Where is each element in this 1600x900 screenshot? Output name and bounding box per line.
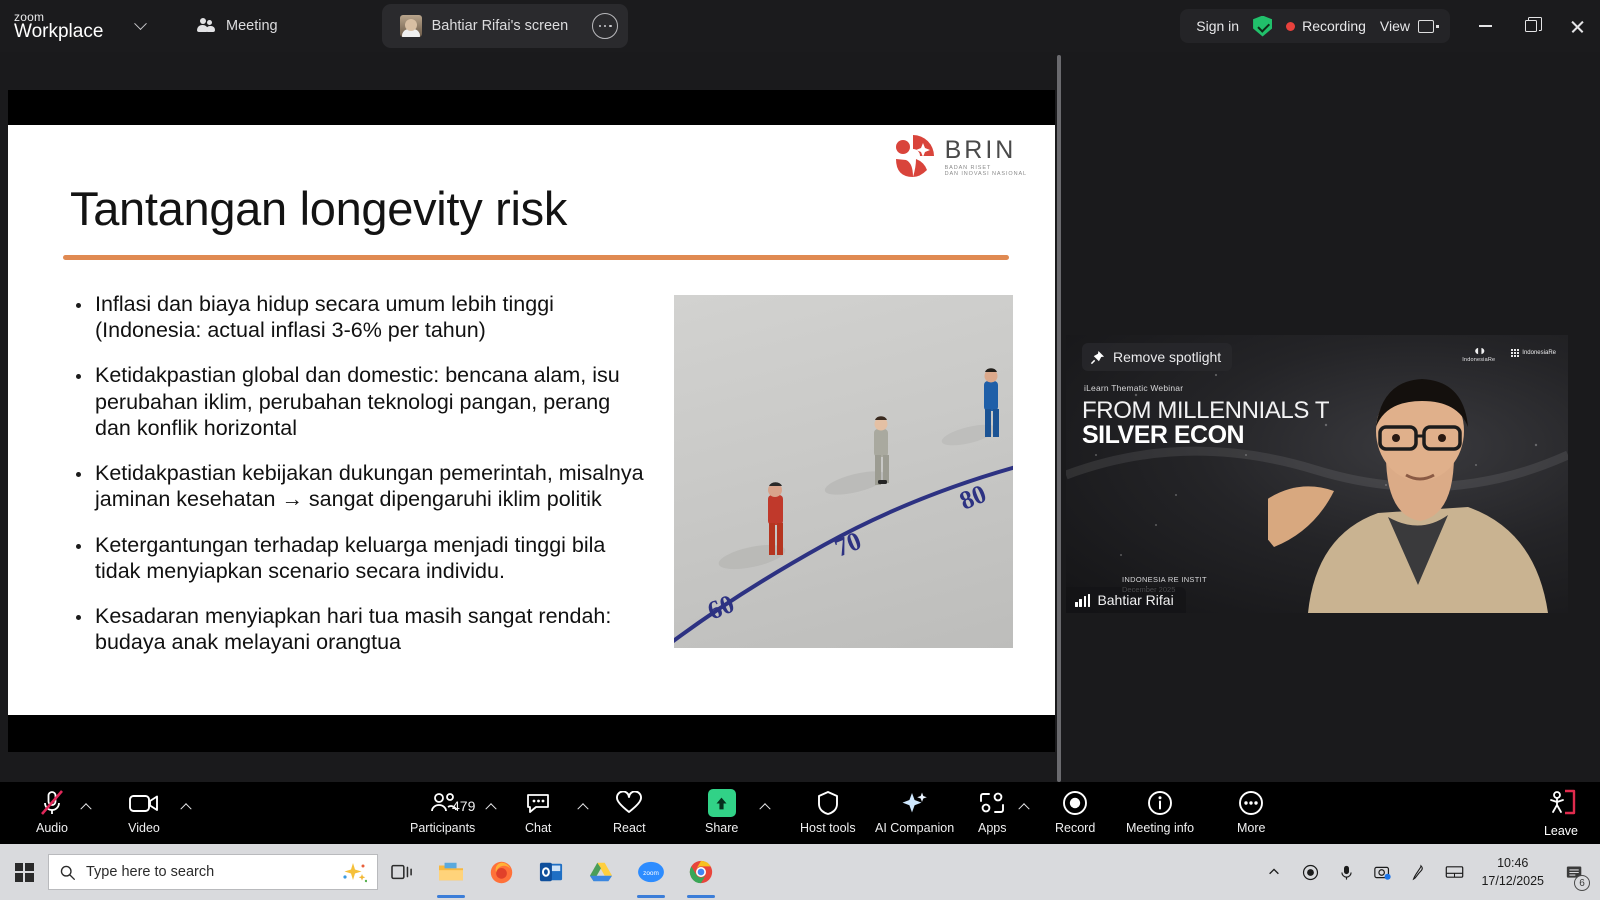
- control-apps-label: Apps: [978, 821, 1007, 835]
- clock-date: 17/12/2025: [1481, 872, 1544, 890]
- microphone-icon[interactable]: [1329, 844, 1363, 900]
- list-item: Inflasi dan biaya hidup secara umum lebi…: [76, 291, 651, 343]
- title-bar-right: Sign in Recording View: [1180, 0, 1600, 52]
- audio-options-caret[interactable]: [78, 798, 94, 814]
- control-audio[interactable]: Audio: [36, 788, 68, 835]
- more-dots-icon: [1238, 788, 1264, 818]
- chevron-down-icon[interactable]: [126, 12, 154, 40]
- control-more-label: More: [1237, 821, 1265, 835]
- control-record-label: Record: [1055, 821, 1095, 835]
- sign-in-button[interactable]: Sign in: [1196, 18, 1239, 34]
- participant-name: Bahtiar Rifai: [1097, 592, 1173, 608]
- zoom-icon[interactable]: zoom: [626, 844, 676, 900]
- heart-icon: [615, 788, 643, 818]
- control-react[interactable]: React: [613, 788, 646, 835]
- tab-meeting[interactable]: Meeting: [178, 4, 296, 48]
- control-audio-label: Audio: [36, 821, 68, 835]
- camera-status-icon[interactable]: [1365, 844, 1399, 900]
- slide-title: Tantangan longevity risk: [70, 181, 567, 236]
- leave-door-icon: [1546, 788, 1576, 821]
- view-label: View: [1380, 18, 1410, 34]
- presenter-webcam-image: [1268, 335, 1568, 613]
- audio-level-bars-icon: [1075, 594, 1090, 607]
- notification-count: 6: [1574, 875, 1590, 891]
- screen-record-icon[interactable]: [1293, 844, 1327, 900]
- control-chat[interactable]: Chat: [525, 788, 551, 835]
- camera-icon: [128, 788, 160, 818]
- svg-text:60: 60: [703, 589, 738, 626]
- brin-mark-icon: [890, 133, 936, 179]
- control-more[interactable]: More: [1237, 788, 1265, 835]
- control-share[interactable]: Share: [705, 788, 738, 835]
- list-item: Ketergantungan terhadap keluarga menjadi…: [76, 532, 651, 584]
- avatar-icon: [400, 15, 422, 37]
- close-icon[interactable]: [1554, 0, 1600, 52]
- info-icon: [1147, 788, 1173, 818]
- participants-count: 479: [452, 798, 475, 814]
- svg-text:zoom: zoom: [643, 870, 659, 877]
- share-screen-icon: [708, 788, 736, 818]
- people-icon: [196, 18, 216, 35]
- meeting-stage: BRIN BADAN RISET DAN INOVASI NASIONAL Ta…: [0, 52, 1600, 782]
- bullet-dot-icon: [76, 544, 81, 549]
- search-placeholder: Type here to search: [86, 864, 331, 880]
- system-tray: 10:46 17/12/2025 6: [1257, 844, 1600, 900]
- participant-name-badge: Bahtiar Rifai: [1066, 587, 1186, 613]
- shield-check-icon[interactable]: [1253, 16, 1272, 37]
- control-host-tools[interactable]: Host tools: [800, 788, 856, 835]
- control-chat-label: Chat: [525, 821, 551, 835]
- shield-icon: [816, 788, 840, 818]
- taskbar-clock[interactable]: 10:46 17/12/2025: [1473, 854, 1552, 890]
- brin-logo: BRIN BADAN RISET DAN INOVASI NASIONAL: [890, 133, 1027, 179]
- slide-bullet-list: Inflasi dan biaya hidup secara umum lebi…: [76, 291, 651, 674]
- control-video[interactable]: Video: [128, 788, 160, 835]
- title-bar: zoom Workplace Meeting Bahtiar Rifai's s…: [0, 0, 1600, 52]
- presentation-slide: BRIN BADAN RISET DAN INOVASI NASIONAL Ta…: [8, 125, 1055, 715]
- file-explorer-icon[interactable]: [426, 844, 476, 900]
- video-options-caret[interactable]: [178, 798, 194, 814]
- recording-label: Recording: [1302, 18, 1366, 34]
- tab-shared-screen-label: Bahtiar Rifai's screen: [432, 18, 569, 34]
- zoom-meeting-window: zoom Workplace Meeting Bahtiar Rifai's s…: [0, 0, 1600, 900]
- tab-meeting-label: Meeting: [226, 18, 278, 34]
- sparkle-icon: [901, 788, 929, 818]
- brin-wordmark: BRIN: [945, 136, 1027, 165]
- window-tabs: Meeting Bahtiar Rifai's screen: [178, 0, 628, 52]
- pen-icon[interactable]: [1401, 844, 1435, 900]
- pin-icon: [1090, 350, 1105, 365]
- notification-icon[interactable]: 6: [1554, 844, 1594, 900]
- list-item: Ketidakpastian global dan domestic: benc…: [76, 362, 651, 441]
- remove-spotlight-label: Remove spotlight: [1113, 349, 1221, 365]
- recording-indicator[interactable]: Recording: [1286, 18, 1366, 34]
- clock-time: 10:46: [1497, 854, 1528, 872]
- brin-subtitle-2: DAN INOVASI NASIONAL: [945, 171, 1027, 177]
- copilot-sparkle-icon[interactable]: [341, 861, 367, 883]
- more-options-icon[interactable]: [592, 13, 618, 39]
- restore-icon[interactable]: [1508, 0, 1554, 52]
- zoom-workplace-logo: zoom Workplace: [14, 11, 110, 41]
- control-share-label: Share: [705, 821, 738, 835]
- list-item: Ketidakpastian kebijakan dukungan pemeri…: [76, 460, 651, 512]
- brand-line-2: Workplace: [14, 22, 110, 41]
- meeting-control-bar: Audio Video Participants 479 Chat: [0, 782, 1600, 844]
- chrome-icon[interactable]: [676, 844, 726, 900]
- control-ai-companion[interactable]: AI Companion: [875, 788, 954, 835]
- show-hidden-icons-chevron[interactable]: [1257, 844, 1291, 900]
- tab-shared-screen[interactable]: Bahtiar Rifai's screen: [382, 4, 629, 48]
- view-button[interactable]: View: [1380, 18, 1434, 34]
- bullet-text: Ketidakpastian kebijakan dukungan pemeri…: [95, 460, 651, 512]
- touchpad-icon[interactable]: [1437, 844, 1471, 900]
- control-apps[interactable]: Apps: [978, 788, 1007, 835]
- shared-screen-area[interactable]: BRIN BADAN RISET DAN INOVASI NASIONAL Ta…: [8, 90, 1055, 752]
- slide-photo: 60 70 80: [674, 295, 1013, 648]
- firefox-icon[interactable]: [476, 844, 526, 900]
- list-item: Kesadaran menyiapkan hari tua masih sang…: [76, 603, 651, 655]
- chat-bubble-icon: [525, 788, 551, 818]
- bullet-text: Inflasi dan biaya hidup secara umum lebi…: [95, 291, 651, 343]
- layout-icon: [1418, 20, 1434, 33]
- status-pill: Sign in Recording View: [1180, 9, 1450, 43]
- control-record[interactable]: Record: [1055, 788, 1095, 835]
- leave-button[interactable]: Leave: [1544, 788, 1578, 838]
- control-ai-companion-label: AI Companion: [875, 821, 954, 835]
- control-meeting-info[interactable]: Meeting info: [1126, 788, 1194, 835]
- control-host-tools-label: Host tools: [800, 821, 856, 835]
- institute-line-1: INDONESIA RE INSTIT: [1122, 575, 1207, 584]
- share-options-caret[interactable]: [757, 798, 773, 814]
- control-participants-label: Participants: [410, 821, 475, 835]
- webinar-title-line-2: SILVER ECON: [1082, 421, 1244, 450]
- bullet-text: Ketidakpastian global dan domestic: benc…: [95, 362, 651, 441]
- outlook-icon[interactable]: [526, 844, 576, 900]
- bullet-dot-icon: [76, 615, 81, 620]
- svg-text:70: 70: [830, 526, 865, 563]
- chat-options-caret[interactable]: [575, 798, 591, 814]
- bullet-text: Ketergantungan terhadap keluarga menjadi…: [95, 532, 651, 584]
- microphone-muted-icon: [39, 788, 65, 818]
- windows-start-icon[interactable]: [0, 844, 48, 900]
- apps-icon: [978, 788, 1006, 818]
- spotlighted-video-tile[interactable]: iLearn Thematic Webinar FROM MILLENNIALS…: [1066, 335, 1568, 613]
- recording-dot-icon: [1286, 22, 1295, 31]
- remove-spotlight-button[interactable]: Remove spotlight: [1082, 343, 1232, 371]
- webinar-kicker: iLearn Thematic Webinar: [1084, 383, 1183, 393]
- search-icon: [59, 864, 76, 881]
- control-meeting-info-label: Meeting info: [1126, 821, 1194, 835]
- google-drive-icon[interactable]: [576, 844, 626, 900]
- title-underline: [63, 255, 1009, 260]
- search-input[interactable]: Type here to search: [48, 854, 378, 890]
- bullet-dot-icon: [76, 472, 81, 477]
- bullet-dot-icon: [76, 303, 81, 308]
- control-react-label: React: [613, 821, 646, 835]
- minimize-icon[interactable]: [1462, 0, 1508, 52]
- windows-taskbar: Type here to search zoom: [0, 844, 1600, 900]
- bullet-text: Kesadaran menyiapkan hari tua masih sang…: [95, 603, 651, 655]
- leave-button-label: Leave: [1544, 824, 1578, 838]
- control-video-label: Video: [128, 821, 160, 835]
- participants-options-caret[interactable]: [483, 798, 499, 814]
- panel-divider-handle[interactable]: [1057, 55, 1061, 782]
- record-icon: [1062, 788, 1088, 818]
- bullet-dot-icon: [76, 374, 81, 379]
- task-view-icon[interactable]: [378, 844, 426, 900]
- apps-options-caret[interactable]: [1016, 798, 1032, 814]
